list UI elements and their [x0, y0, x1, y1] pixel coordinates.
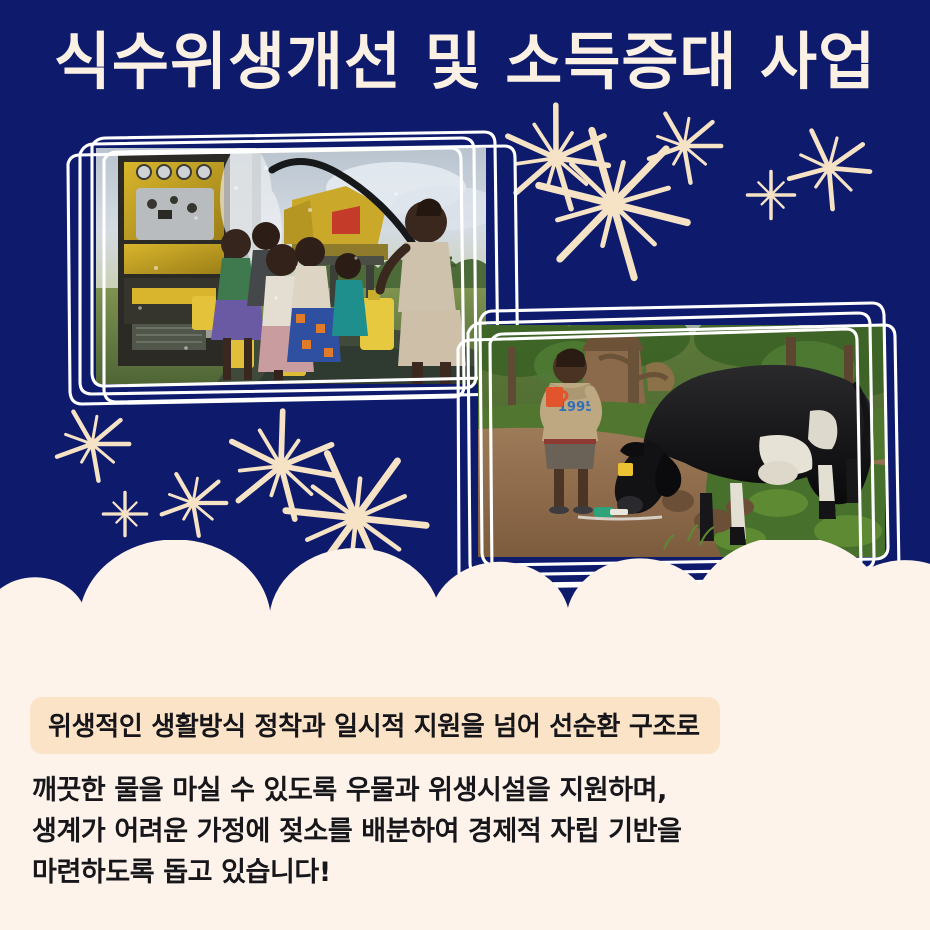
description-section: 위생적인 생활방식 정착과 일시적 지원을 넘어 선순환 구조로 깨끗한 물을 …	[0, 660, 930, 930]
borehole-water-well-photo	[96, 148, 486, 384]
poster-root: 식수위생개선 및 소득증대 사업	[0, 0, 930, 930]
navy-hero-panel: 식수위생개선 및 소득증대 사업	[0, 0, 930, 660]
borehole-photo-image	[96, 148, 486, 384]
highlight-banner: 위생적인 생활방식 정착과 일시적 지원을 넘어 선순환 구조로	[30, 697, 720, 754]
body-line-3: 마련하도록 돕고 있습니다!	[32, 852, 902, 893]
svg-text:1995: 1995	[558, 400, 594, 415]
body-line-1: 깨끗한 물을 마실 수 있도록 우물과 위생시설을 지원하며,	[32, 770, 902, 811]
sparkle-icon	[787, 126, 871, 210]
dairy-cow-photo-image: 1995	[478, 325, 885, 557]
cloud-divider	[0, 540, 930, 660]
sparkle-icon	[225, 410, 337, 522]
body-line-2: 생계가 어려운 가정에 젖소를 배분하여 경제적 자립 기반을	[32, 811, 902, 852]
body-copy: 깨끗한 물을 마실 수 있도록 우물과 위생시설을 지원하며, 생계가 어려운 …	[32, 770, 902, 893]
page-title: 식수위생개선 및 소득증대 사업	[0, 26, 930, 97]
sparkle-icon	[502, 104, 610, 212]
sparkle-icon	[535, 126, 691, 282]
sparkle-icon	[646, 108, 722, 184]
sparkle-icon	[159, 469, 227, 537]
sparkle-icon	[54, 406, 130, 482]
dairy-cow-photo: 1995	[478, 325, 885, 557]
sparkle-icon	[747, 171, 795, 219]
sparkle-icon	[103, 492, 147, 536]
